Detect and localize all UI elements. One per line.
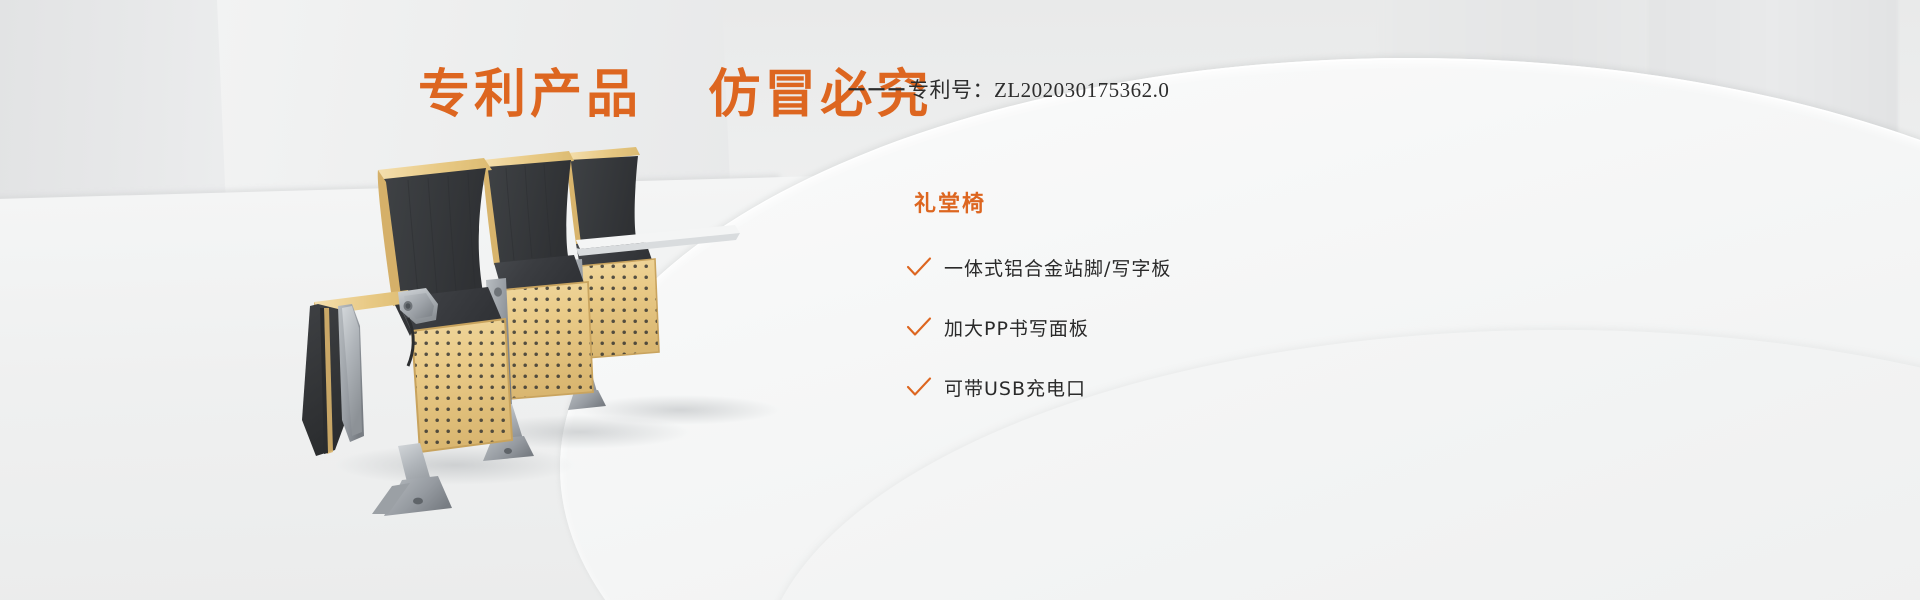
chair-floor-shadow bbox=[335, 395, 780, 485]
product-title: 礼堂椅 bbox=[914, 186, 1426, 218]
check-icon bbox=[906, 316, 932, 338]
check-icon bbox=[906, 256, 932, 278]
feature-label: 一体式铝合金站脚/写字板 bbox=[944, 254, 1171, 281]
feature-item-3: 可带USB充电口 bbox=[906, 370, 1426, 404]
feature-item-1: 一体式铝合金站脚/写字板 bbox=[906, 250, 1426, 284]
patent-number: ZL202030175362.0 bbox=[994, 78, 1169, 102]
product-banner: 专利产品 仿冒必究 －－－专利号：ZL202030175362.0 bbox=[0, 0, 1920, 600]
headline-left-text: 专利产品 bbox=[418, 65, 642, 125]
patent-label: 专利号： bbox=[908, 78, 994, 102]
patent-number-line: －－－专利号：ZL202030175362.0 bbox=[846, 74, 1169, 104]
feature-item-2: 加大PP书写面板 bbox=[906, 310, 1426, 344]
feature-list: 礼堂椅 一体式铝合金站脚/写字板 加大PP书写面板 bbox=[906, 186, 1426, 430]
auditorium-chair-row-image bbox=[280, 120, 800, 500]
feature-label: 加大PP书写面板 bbox=[944, 314, 1089, 341]
check-icon bbox=[906, 376, 932, 398]
feature-label: 可带USB充电口 bbox=[944, 374, 1086, 401]
patent-dashes: －－－ bbox=[846, 79, 906, 102]
